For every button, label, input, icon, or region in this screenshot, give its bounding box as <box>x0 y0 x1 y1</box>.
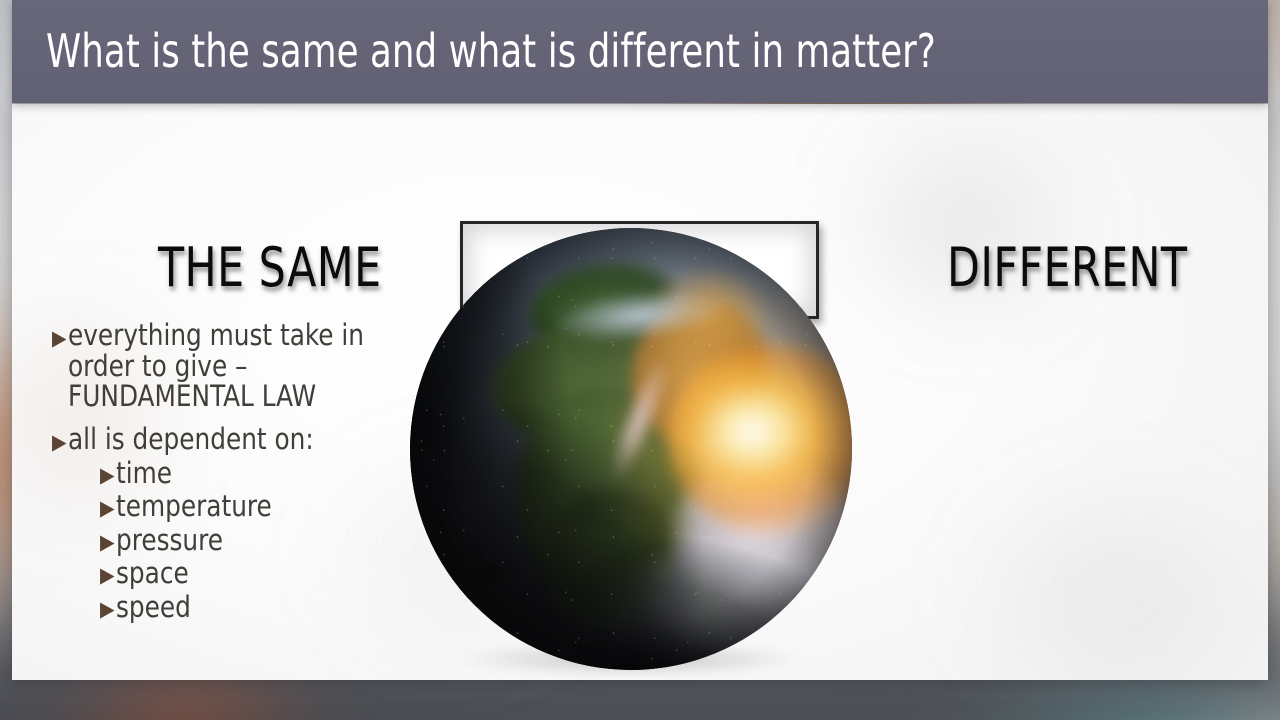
list-item: ▶ speed <box>100 591 442 623</box>
triangle-bullet-icon: ▶ <box>100 490 116 519</box>
the-same-bullet-list: ▶ everything must take in order to give … <box>52 320 442 624</box>
globe-sphere <box>410 228 852 670</box>
heading-different: DIFFERENT <box>947 236 1187 299</box>
list-item-label: everything must take in order to give – … <box>68 320 424 412</box>
triangle-bullet-icon: ▶ <box>100 591 116 620</box>
globe-sphere-shading <box>410 228 852 670</box>
list-item: ▶ space <box>100 557 442 589</box>
page-title: What is the same and what is different i… <box>46 23 936 77</box>
triangle-bullet-icon: ▶ <box>52 320 68 349</box>
slide-title-bar: What is the same and what is different i… <box>12 0 1268 103</box>
list-item-label: speed <box>116 591 426 623</box>
triangle-bullet-icon: ▶ <box>100 524 116 553</box>
card-背-ghost <box>832 114 1092 334</box>
list-item-label: temperature <box>116 490 426 522</box>
triangle-bullet-icon: ▶ <box>100 457 116 486</box>
list-item: ▶ pressure <box>100 524 442 556</box>
list-item-label: space <box>116 557 426 589</box>
list-item: ▶ everything must take in order to give … <box>52 320 442 412</box>
list-item: ▶ all is dependent on: <box>52 424 442 455</box>
slide-stage: THE SAME MATTER DIFFERENT ▶ everything m… <box>0 0 1280 720</box>
triangle-bullet-icon: ▶ <box>100 557 116 586</box>
earth-globe-illustration <box>410 228 852 670</box>
list-item-label: all is dependent on: <box>68 424 424 455</box>
list-item-label: time <box>116 457 426 489</box>
slide-card: THE SAME MATTER DIFFERENT ▶ everything m… <box>12 104 1268 680</box>
list-item: ▶ time <box>100 457 442 489</box>
triangle-bullet-icon: ▶ <box>52 424 68 453</box>
list-item: ▶ temperature <box>100 490 442 522</box>
heading-the-same: THE SAME <box>158 236 382 299</box>
list-item-label: pressure <box>116 524 426 556</box>
